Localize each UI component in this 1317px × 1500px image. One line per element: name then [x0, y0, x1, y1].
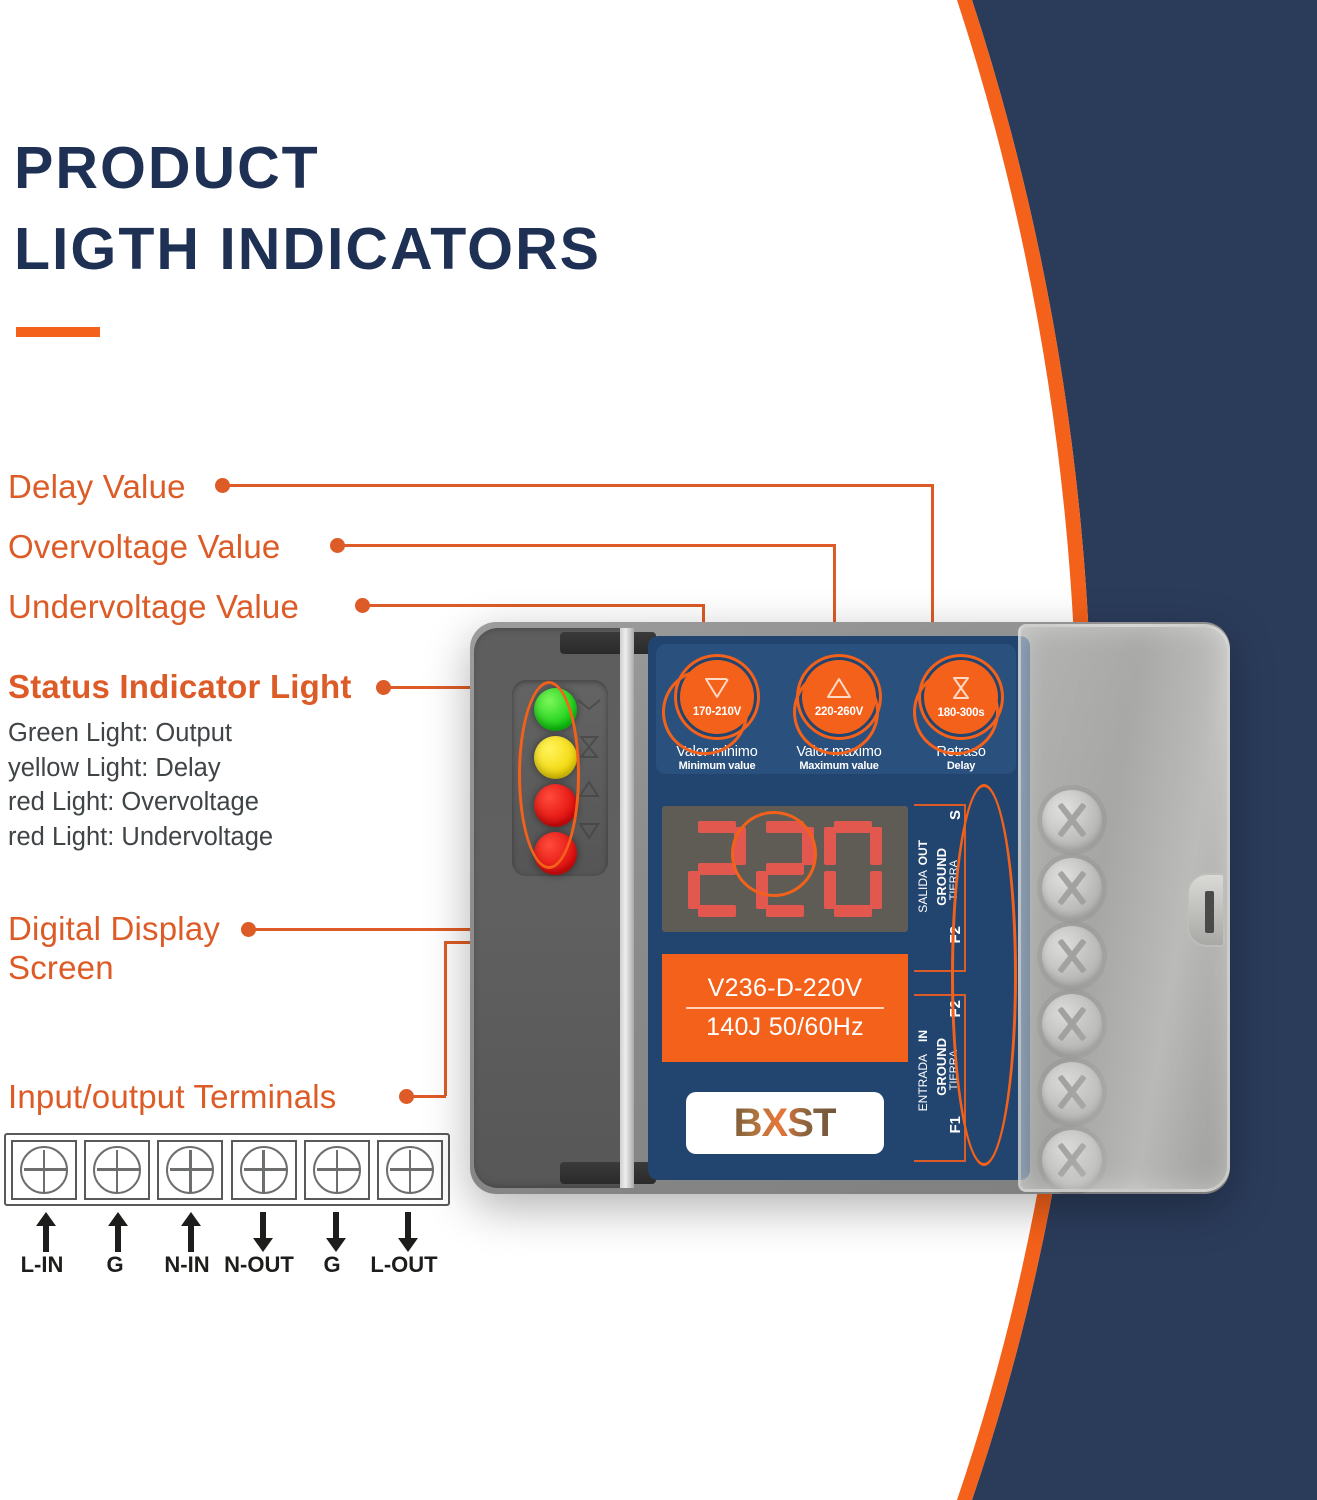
highlight-circle-delay-knob — [913, 669, 999, 755]
knob-minimum-value-label-en: Minimum value — [662, 760, 772, 772]
screw-icon — [166, 1146, 214, 1194]
terminal-cell — [304, 1140, 370, 1200]
terminal-label-l-in: L-IN — [2, 1252, 82, 1278]
title-underline-rule — [16, 327, 100, 337]
hinge-top — [560, 632, 656, 654]
terminal-out-line2: SALIDA — [916, 870, 930, 913]
arrow-down-icon — [395, 1210, 421, 1254]
terminal-cell — [377, 1140, 443, 1200]
terminal-cell — [157, 1140, 223, 1200]
display-digit-3 — [824, 821, 882, 917]
callout-undervoltage-value-label: Undervoltage Value — [8, 588, 299, 625]
rating-divider — [686, 1007, 884, 1009]
callout-input-output-terminals: Input/output Terminals — [8, 1078, 337, 1116]
screw-icon — [20, 1146, 68, 1194]
status-legend-item-red-under: red Light: Undervoltage — [8, 820, 273, 855]
rating-spec: 140J 50/60Hz — [706, 1013, 864, 1042]
cover-latch-icon[interactable] — [1187, 873, 1225, 947]
arrow-up-icon — [178, 1210, 204, 1254]
terminal-out-ground: GROUND — [934, 848, 949, 906]
callout-delay-value: Delay Value — [8, 468, 186, 506]
terminal-cell — [84, 1140, 150, 1200]
terminal-cell — [11, 1140, 77, 1200]
arrow-down-icon — [250, 1210, 276, 1254]
terminal-direction-arrows — [4, 1210, 450, 1254]
arrow-up-icon — [33, 1210, 59, 1254]
status-legend-item-yellow: yellow Light: Delay — [8, 751, 273, 786]
highlight-ellipse-leds — [518, 681, 580, 869]
terminal-label-l-out: L-OUT — [364, 1252, 444, 1278]
device-hinge-bar — [620, 628, 634, 1188]
leader-line-undervoltage-h — [368, 604, 705, 607]
rating-label: V236-D-220V 140J 50/60Hz — [662, 954, 908, 1062]
screw-icon — [93, 1146, 141, 1194]
terminal-in-ground: GROUND — [934, 1038, 949, 1096]
knob-maximum-value-label-en: Maximum value — [784, 760, 894, 772]
callout-status-indicator-light-label: Status Indicator Light — [8, 668, 352, 705]
callout-overvoltage-value-label: Overvoltage Value — [8, 528, 280, 565]
callout-undervoltage-value: Undervoltage Value — [8, 588, 299, 626]
highlight-circle-minimum-knob — [662, 669, 748, 755]
highlight-circle-display-digit — [731, 811, 817, 897]
leader-line-delay-h — [228, 484, 934, 487]
terminal-label-n-in: N-IN — [147, 1252, 227, 1278]
hinge-bottom — [560, 1162, 656, 1184]
triangle-down-icon — [576, 810, 602, 852]
terminal-in-line2: ENTRADA — [916, 1054, 930, 1111]
callout-input-output-terminals-label: Input/output Terminals — [8, 1078, 337, 1115]
terminal-in-line1: IN — [916, 1030, 930, 1042]
infographic-canvas: PRODUCT LIGTH INDICATORS Delay Value Ove… — [0, 0, 1317, 1500]
callout-status-indicator-light: Status Indicator Light — [8, 668, 352, 706]
brand-logo-box: BXST — [686, 1092, 884, 1154]
callout-digital-display-screen: Digital Display Screen — [8, 910, 220, 988]
screw-icon — [313, 1146, 361, 1194]
terminal-label-n-out: N-OUT — [219, 1252, 299, 1278]
status-legend-item-green: Green Light: Output — [8, 716, 273, 751]
callout-digital-display-line-1: Digital Display — [8, 910, 220, 949]
knob-delay-label-en: Delay — [906, 760, 1016, 772]
callout-digital-display-line-2: Screen — [8, 949, 220, 988]
terminal-cell — [231, 1140, 297, 1200]
terminal-labels: L-IN G N-IN N-OUT G L-OUT — [0, 1252, 460, 1282]
arrow-down-icon — [323, 1210, 349, 1254]
terminal-label-g-in: G — [75, 1252, 155, 1278]
terminal-out-line1: OUT — [916, 840, 930, 865]
terminal-out-s-label: S — [947, 810, 964, 820]
terminal-strip-diagram — [4, 1133, 450, 1206]
highlight-ellipse-screw-terminals — [951, 784, 1017, 1166]
status-light-legend: Green Light: Output yellow Light: Delay … — [8, 716, 273, 855]
callout-overvoltage-value: Overvoltage Value — [8, 528, 280, 566]
chevron-down-icon — [576, 684, 602, 726]
page-title: PRODUCT LIGTH INDICATORS — [14, 128, 601, 291]
leader-line-overvoltage-h — [343, 544, 836, 547]
led-symbol-column — [576, 684, 616, 852]
brand-logo-text: BXST — [734, 1101, 837, 1146]
hourglass-icon — [576, 726, 602, 768]
rating-model: V236-D-220V — [708, 974, 863, 1003]
status-legend-item-red-over: red Light: Overvoltage — [8, 785, 273, 820]
terminal-label-g-out: G — [292, 1252, 372, 1278]
leader-line-terminals-v — [444, 941, 447, 1096]
callout-delay-value-label: Delay Value — [8, 468, 186, 505]
highlight-circle-maximum-knob — [793, 669, 879, 755]
screw-icon — [240, 1146, 288, 1194]
screw-icon — [386, 1146, 434, 1194]
page-title-line-2: LIGTH INDICATORS — [14, 209, 601, 290]
leader-line-terminals-h1 — [412, 1095, 446, 1098]
transparent-cover[interactable] — [1018, 624, 1230, 1192]
page-title-line-1: PRODUCT — [14, 128, 601, 209]
arrow-up-icon — [105, 1210, 131, 1254]
